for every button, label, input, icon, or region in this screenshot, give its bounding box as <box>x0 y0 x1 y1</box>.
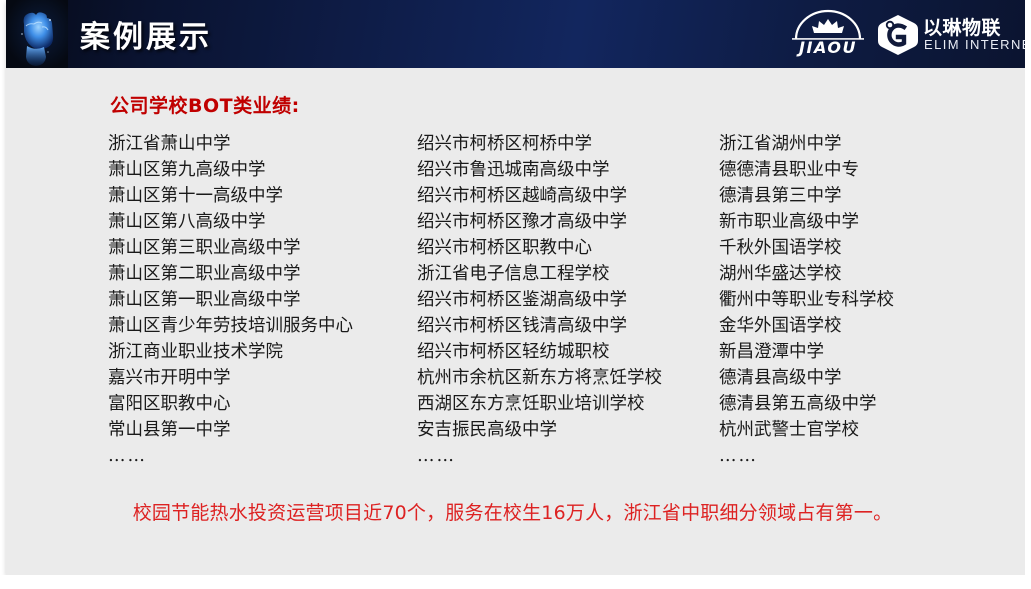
list-item: 绍兴市柯桥区鉴湖高级中学 <box>417 287 662 313</box>
page-title: 案例展示 <box>80 12 212 56</box>
list-item: 新昌澄潭中学 <box>719 339 894 365</box>
slide-header-bar: 案例展示 JIAOU 以琳物联 ELIM INTERNET <box>6 0 1025 68</box>
list-item: 浙江商业职业技术学院 <box>108 339 353 365</box>
list-item: 富阳区职教中心 <box>108 391 353 417</box>
list-item: 浙江省萧山中学 <box>108 131 353 157</box>
list-item: 浙江省湖州中学 <box>719 131 894 157</box>
list-item: 德德清县职业中专 <box>719 157 894 183</box>
list-item: 萧山区第九高级中学 <box>108 157 353 183</box>
school-column-1: 浙江省萧山中学 萧山区第九高级中学 萧山区第十一高级中学 萧山区第八高级中学 萧… <box>108 131 353 469</box>
jiaou-wordmark: JIAOU <box>782 38 874 57</box>
school-list-columns: 浙江省萧山中学 萧山区第九高级中学 萧山区第十一高级中学 萧山区第八高级中学 萧… <box>0 131 1019 461</box>
list-item: 德清县第三中学 <box>719 183 894 209</box>
slide-bottom-margin <box>0 575 1031 589</box>
fist-image-block <box>6 0 68 68</box>
list-item: 杭州市余杭区新东方将烹饪学校 <box>417 365 662 391</box>
list-item: 萧山区青少年劳技培训服务中心 <box>108 313 353 339</box>
list-item: 杭州武警士官学校 <box>719 417 894 443</box>
list-item: 绍兴市柯桥区柯桥中学 <box>417 131 662 157</box>
slide-right-margin <box>1025 0 1031 575</box>
list-item: 常山县第一中学 <box>108 417 353 443</box>
list-item: 萧山区第一职业高级中学 <box>108 287 353 313</box>
list-item: 新市职业高级中学 <box>719 209 894 235</box>
summary-caption: 校园节能热水投资运营项目近70个，服务在校生16万人，浙江省中职细分领域占有第一… <box>0 498 1019 525</box>
list-item: 绍兴市柯桥区轻纺城职校 <box>417 339 662 365</box>
list-item: 德清县第五高级中学 <box>719 391 894 417</box>
list-item: 绍兴市柯桥区职教中心 <box>417 235 662 261</box>
elim-logo: 以琳物联 ELIM INTERNET <box>877 12 1013 57</box>
list-item: 萧山区第三职业高级中学 <box>108 235 353 261</box>
jiaou-logo: JIAOU <box>782 9 874 59</box>
list-item: 绍兴市柯桥区钱清高级中学 <box>417 313 662 339</box>
list-item: 浙江省电子信息工程学校 <box>417 261 662 287</box>
elim-name-cn: 以琳物联 <box>923 13 1001 40</box>
list-item: 萧山区第二职业高级中学 <box>108 261 353 287</box>
list-item: 嘉兴市开明中学 <box>108 365 353 391</box>
list-item: 绍兴市鲁迅城南高级中学 <box>417 157 662 183</box>
list-item: 湖州华盛达学校 <box>719 261 894 287</box>
list-item: 千秋外国语学校 <box>719 235 894 261</box>
section-title: 公司学校BOT类业绩: <box>110 91 300 118</box>
list-item: 绍兴市柯桥区豫才高级中学 <box>417 209 662 235</box>
jiaou-arch-sun-mark <box>788 9 868 41</box>
list-item: 德清县高级中学 <box>719 365 894 391</box>
list-item: 金华外国语学校 <box>719 313 894 339</box>
school-column-3: 浙江省湖州中学 德德清县职业中专 德清县第三中学 新市职业高级中学 千秋外国语学… <box>719 131 894 469</box>
list-ellipsis: …… <box>719 443 894 469</box>
elim-name-en: ELIM INTERNET <box>924 37 1025 52</box>
list-item: 萧山区第十一高级中学 <box>108 183 353 209</box>
list-item: 萧山区第八高级中学 <box>108 209 353 235</box>
glowing-fist-icon <box>14 4 58 66</box>
school-column-2: 绍兴市柯桥区柯桥中学 绍兴市鲁迅城南高级中学 绍兴市柯桥区越崎高级中学 绍兴市柯… <box>417 131 662 469</box>
list-ellipsis: …… <box>417 443 662 469</box>
elim-g-hexagon-mark <box>877 14 919 56</box>
list-item: 安吉振民高级中学 <box>417 417 662 443</box>
list-item: 绍兴市柯桥区越崎高级中学 <box>417 183 662 209</box>
list-item: 西湖区东方烹饪职业培训学校 <box>417 391 662 417</box>
presentation-slide: 案例展示 JIAOU 以琳物联 ELIM INTERNET 公司学校BOT类业绩… <box>0 0 1031 589</box>
list-ellipsis: …… <box>108 443 353 469</box>
list-item: 衢州中等职业专科学校 <box>719 287 894 313</box>
